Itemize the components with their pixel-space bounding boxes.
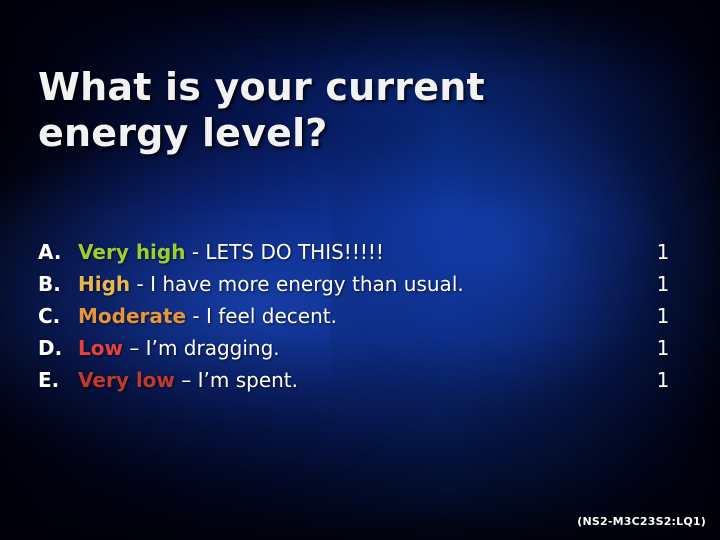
- answer-highlight: Low: [78, 336, 123, 360]
- list-item: D. Low – I’m dragging. 1: [38, 336, 683, 368]
- answer-highlight: Very low: [78, 368, 175, 392]
- answer-text: Very high - LETS DO THIS!!!!!: [78, 240, 643, 264]
- answer-count: 1: [643, 272, 683, 296]
- slide: What is your current energy level? A. Ve…: [0, 0, 720, 540]
- answer-text: Moderate - I feel decent.: [78, 304, 643, 328]
- answer-count: 1: [643, 368, 683, 392]
- page-title: What is your current energy level?: [38, 64, 598, 157]
- answer-list: A. Very high - LETS DO THIS!!!!! 1 B. Hi…: [38, 240, 683, 400]
- answer-rest: – I’m dragging.: [123, 336, 280, 360]
- answer-highlight: Moderate: [78, 304, 186, 328]
- list-item: C. Moderate - I feel decent. 1: [38, 304, 683, 336]
- answer-rest: - I feel decent.: [186, 304, 337, 328]
- answer-text: Very low – I’m spent.: [78, 368, 643, 392]
- answer-letter: C.: [38, 304, 78, 328]
- answer-highlight: Very high: [78, 240, 185, 264]
- answer-rest: - LETS DO THIS!!!!!: [185, 240, 383, 264]
- answer-letter: A.: [38, 240, 78, 264]
- answer-text: Low – I’m dragging.: [78, 336, 643, 360]
- answer-rest: - I have more energy than usual.: [130, 272, 464, 296]
- answer-text: High - I have more energy than usual.: [78, 272, 643, 296]
- answer-letter: D.: [38, 336, 78, 360]
- answer-count: 1: [643, 240, 683, 264]
- answer-highlight: High: [78, 272, 130, 296]
- answer-rest: – I’m spent.: [175, 368, 298, 392]
- list-item: B. High - I have more energy than usual.…: [38, 272, 683, 304]
- question-id-footer: (NS2-M3C23S2:LQ1): [577, 515, 706, 528]
- answer-count: 1: [643, 304, 683, 328]
- list-item: E. Very low – I’m spent. 1: [38, 368, 683, 400]
- list-item: A. Very high - LETS DO THIS!!!!! 1: [38, 240, 683, 272]
- answer-count: 1: [643, 336, 683, 360]
- answer-letter: E.: [38, 368, 78, 392]
- answer-letter: B.: [38, 272, 78, 296]
- slide-content: What is your current energy level? A. Ve…: [0, 0, 720, 540]
